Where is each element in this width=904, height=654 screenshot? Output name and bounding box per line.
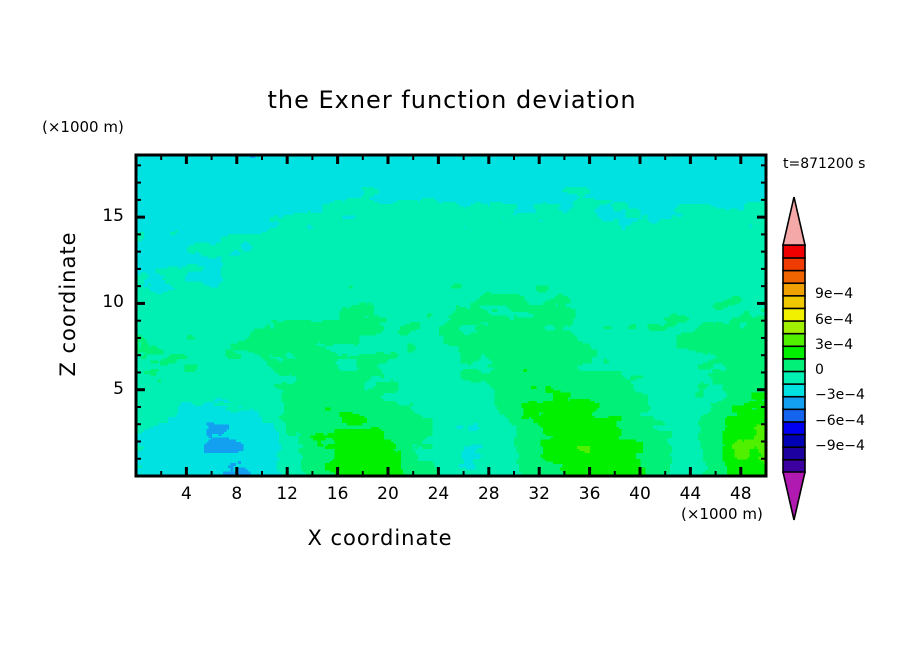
- x-tick-label: 20: [368, 484, 408, 504]
- colorbar-tick-label: 3e−4: [815, 337, 853, 353]
- colorbar-under-cap: [783, 472, 805, 520]
- colorbar-tick-label: −9e−4: [815, 438, 865, 454]
- x-tick-label: 28: [469, 484, 509, 504]
- colorbar: [783, 197, 805, 520]
- colorbar-band: [783, 396, 805, 409]
- colorbar-band: [783, 359, 805, 372]
- y-tick-label: 15: [84, 206, 124, 226]
- colorbar-band: [783, 308, 805, 321]
- colorbar-tick-label: 9e−4: [815, 286, 853, 302]
- x-tick-label: 16: [318, 484, 358, 504]
- colorbar-band: [783, 384, 805, 397]
- y-tick-label: 10: [84, 292, 124, 312]
- x-tick-label: 44: [670, 484, 710, 504]
- colorbar-band: [783, 371, 805, 384]
- contour-field: [136, 155, 767, 477]
- colorbar-tick-label: 6e−4: [815, 312, 853, 328]
- colorbar-band: [783, 245, 805, 258]
- x-tick-label: 4: [166, 484, 206, 504]
- colorbar-band: [783, 447, 805, 460]
- figure: the Exner function deviation (×1000 m) (…: [0, 0, 904, 654]
- colorbar-over-cap: [783, 197, 805, 245]
- colorbar-tick-label: −3e−4: [815, 387, 865, 403]
- colorbar-band: [783, 346, 805, 359]
- colorbar-tick-label: −6e−4: [815, 413, 865, 429]
- colorbar-band: [783, 321, 805, 334]
- colorbar-band: [783, 459, 805, 472]
- x-tick-label: 8: [217, 484, 257, 504]
- x-tick-label: 12: [267, 484, 307, 504]
- colorbar-band: [783, 270, 805, 283]
- y-tick-label: 5: [84, 379, 124, 399]
- x-tick-label: 40: [620, 484, 660, 504]
- colorbar-band: [783, 295, 805, 308]
- x-tick-label: 36: [570, 484, 610, 504]
- x-tick-label: 24: [418, 484, 458, 504]
- colorbar-band: [783, 333, 805, 346]
- contour-plot: [0, 0, 904, 654]
- colorbar-band: [783, 409, 805, 422]
- colorbar-tick-label: 0: [815, 362, 824, 378]
- colorbar-band: [783, 434, 805, 447]
- colorbar-band: [783, 422, 805, 435]
- colorbar-band: [783, 258, 805, 271]
- x-tick-label: 32: [519, 484, 559, 504]
- x-tick-label: 48: [721, 484, 761, 504]
- colorbar-band: [783, 283, 805, 296]
